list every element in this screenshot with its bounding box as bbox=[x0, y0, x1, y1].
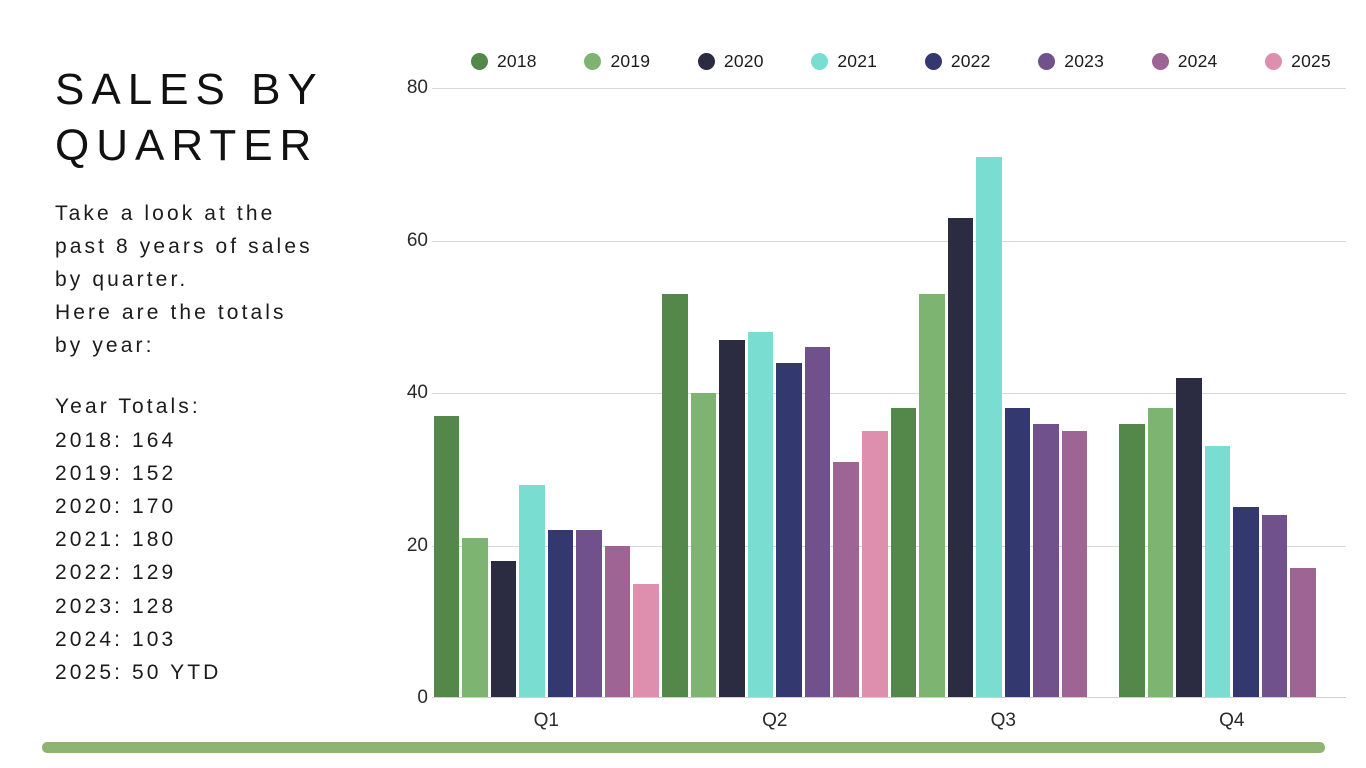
year-total-row: 2023: 128 bbox=[55, 590, 385, 623]
year-totals-heading: Year Totals: bbox=[55, 390, 385, 423]
year-total-row: 2018: 164 bbox=[55, 424, 385, 457]
x-axis-label-Q4: Q4 bbox=[1118, 702, 1347, 732]
chart-legend: 20182019202020212022202320242025 bbox=[471, 46, 1331, 76]
legend-swatch-icon bbox=[1038, 53, 1055, 70]
bar-slot bbox=[718, 88, 747, 698]
legend-item-2019[interactable]: 2019 bbox=[584, 51, 650, 72]
bar-2019-Q1[interactable] bbox=[462, 538, 488, 698]
bar-2025-Q2[interactable] bbox=[862, 431, 888, 698]
y-axis: 020406080 bbox=[386, 88, 428, 698]
bar-2019-Q4[interactable] bbox=[1148, 408, 1174, 698]
bar-slot bbox=[1032, 88, 1061, 698]
bar-slot bbox=[1089, 88, 1118, 698]
year-totals-list: Year Totals: 2018: 1642019: 1522020: 170… bbox=[55, 390, 385, 689]
bar-slot bbox=[1175, 88, 1204, 698]
bottom-accent-bar bbox=[42, 742, 1325, 753]
bar-2021-Q1[interactable] bbox=[519, 485, 545, 699]
legend-item-2022[interactable]: 2022 bbox=[925, 51, 991, 72]
axis-baseline bbox=[432, 697, 1346, 698]
bar-2020-Q4[interactable] bbox=[1176, 378, 1202, 698]
bar-2020-Q2[interactable] bbox=[719, 340, 745, 698]
bar-slot bbox=[603, 88, 632, 698]
bar-group-Q3 bbox=[889, 88, 1118, 698]
year-total-row: 2022: 129 bbox=[55, 556, 385, 589]
y-axis-tick-label: 80 bbox=[407, 77, 428, 99]
legend-item-2024[interactable]: 2024 bbox=[1152, 51, 1218, 72]
bar-slot bbox=[575, 88, 604, 698]
bar-slot bbox=[661, 88, 690, 698]
bar-slot bbox=[775, 88, 804, 698]
bar-slot bbox=[1317, 88, 1346, 698]
legend-item-2018[interactable]: 2018 bbox=[471, 51, 537, 72]
bar-2023-Q4[interactable] bbox=[1262, 515, 1288, 698]
bar-2018-Q4[interactable] bbox=[1119, 424, 1145, 699]
bar-2023-Q3[interactable] bbox=[1033, 424, 1059, 699]
bar-group-Q1 bbox=[432, 88, 661, 698]
bar-slot bbox=[1060, 88, 1089, 698]
bar-slot bbox=[918, 88, 947, 698]
bar-slot bbox=[803, 88, 832, 698]
legend-swatch-icon bbox=[471, 53, 488, 70]
x-axis-labels: Q1Q2Q3Q4 bbox=[432, 702, 1346, 732]
x-axis-label-Q3: Q3 bbox=[889, 702, 1118, 732]
bar-slot bbox=[946, 88, 975, 698]
bar-slot bbox=[1203, 88, 1232, 698]
year-total-row: 2019: 152 bbox=[55, 457, 385, 490]
year-total-row: 2020: 170 bbox=[55, 490, 385, 523]
bar-2024-Q3[interactable] bbox=[1062, 431, 1088, 698]
x-axis-label-Q1: Q1 bbox=[432, 702, 661, 732]
bar-slot bbox=[1146, 88, 1175, 698]
legend-item-2023[interactable]: 2023 bbox=[1038, 51, 1104, 72]
bar-2018-Q2[interactable] bbox=[662, 294, 688, 698]
bar-group-Q2 bbox=[661, 88, 890, 698]
bar-slot bbox=[689, 88, 718, 698]
plot-area: 020406080 Q1Q2Q3Q4 bbox=[386, 88, 1346, 720]
x-axis-label-Q2: Q2 bbox=[661, 702, 890, 732]
legend-label: 2019 bbox=[610, 51, 650, 72]
legend-item-2025[interactable]: 2025 bbox=[1265, 51, 1331, 72]
bar-2019-Q3[interactable] bbox=[919, 294, 945, 698]
y-axis-tick-label: 20 bbox=[407, 535, 428, 557]
bar-2024-Q1[interactable] bbox=[605, 546, 631, 699]
legend-swatch-icon bbox=[1152, 53, 1169, 70]
bar-2021-Q4[interactable] bbox=[1205, 446, 1231, 698]
legend-swatch-icon bbox=[811, 53, 828, 70]
bar-2018-Q1[interactable] bbox=[434, 416, 460, 698]
legend-swatch-icon bbox=[925, 53, 942, 70]
bar-2025-Q1[interactable] bbox=[633, 584, 659, 698]
bar-group-Q4 bbox=[1118, 88, 1347, 698]
bar-2022-Q1[interactable] bbox=[548, 530, 574, 698]
bar-slot bbox=[432, 88, 461, 698]
y-axis-tick-label: 40 bbox=[407, 382, 428, 404]
legend-label: 2023 bbox=[1064, 51, 1104, 72]
bar-slot bbox=[860, 88, 889, 698]
plot-canvas bbox=[432, 88, 1346, 698]
bar-slot bbox=[1003, 88, 1032, 698]
bar-slot bbox=[1260, 88, 1289, 698]
slide-canvas: SALES BY QUARTER Take a look at the past… bbox=[0, 0, 1366, 768]
bar-slot bbox=[832, 88, 861, 698]
bar-2023-Q1[interactable] bbox=[576, 530, 602, 698]
year-total-row: 2025: 50 YTD bbox=[55, 656, 385, 689]
legend-label: 2018 bbox=[497, 51, 537, 72]
bar-slot bbox=[518, 88, 547, 698]
legend-swatch-icon bbox=[584, 53, 601, 70]
bar-slot bbox=[746, 88, 775, 698]
legend-item-2021[interactable]: 2021 bbox=[811, 51, 877, 72]
bar-slot bbox=[1289, 88, 1318, 698]
bar-2022-Q2[interactable] bbox=[776, 363, 802, 699]
year-total-row: 2024: 103 bbox=[55, 623, 385, 656]
page-title: SALES BY QUARTER bbox=[55, 62, 385, 175]
bar-slot bbox=[546, 88, 575, 698]
legend-label: 2021 bbox=[837, 51, 877, 72]
bar-groups bbox=[432, 88, 1346, 698]
left-text-panel: SALES BY QUARTER Take a look at the past… bbox=[55, 62, 385, 689]
bar-slot bbox=[461, 88, 490, 698]
lead-paragraph: Take a look at the past 8 years of sales… bbox=[55, 197, 385, 363]
y-axis-tick-label: 0 bbox=[417, 687, 428, 709]
bar-2021-Q2[interactable] bbox=[748, 332, 774, 698]
bar-slot bbox=[975, 88, 1004, 698]
bar-slot bbox=[1232, 88, 1261, 698]
y-axis-tick-label: 60 bbox=[407, 230, 428, 252]
legend-label: 2020 bbox=[724, 51, 764, 72]
year-total-row: 2021: 180 bbox=[55, 523, 385, 556]
bar-2021-Q3[interactable] bbox=[976, 157, 1002, 698]
bar-2019-Q2[interactable] bbox=[691, 393, 717, 698]
legend-label: 2024 bbox=[1178, 51, 1218, 72]
bar-2020-Q1[interactable] bbox=[491, 561, 517, 698]
bar-2024-Q2[interactable] bbox=[833, 462, 859, 698]
bar-2020-Q3[interactable] bbox=[948, 218, 974, 698]
bar-2018-Q3[interactable] bbox=[891, 408, 917, 698]
legend-item-2020[interactable]: 2020 bbox=[698, 51, 764, 72]
legend-swatch-icon bbox=[698, 53, 715, 70]
bar-2022-Q4[interactable] bbox=[1233, 507, 1259, 698]
bar-2022-Q3[interactable] bbox=[1005, 408, 1031, 698]
bar-2024-Q4[interactable] bbox=[1290, 568, 1316, 698]
bar-slot bbox=[632, 88, 661, 698]
bar-2023-Q2[interactable] bbox=[805, 347, 831, 698]
legend-label: 2025 bbox=[1291, 51, 1331, 72]
bar-slot bbox=[1118, 88, 1147, 698]
legend-label: 2022 bbox=[951, 51, 991, 72]
bar-slot bbox=[889, 88, 918, 698]
sales-bar-chart: 20182019202020212022202320242025 0204060… bbox=[386, 20, 1346, 720]
legend-swatch-icon bbox=[1265, 53, 1282, 70]
bar-slot bbox=[489, 88, 518, 698]
